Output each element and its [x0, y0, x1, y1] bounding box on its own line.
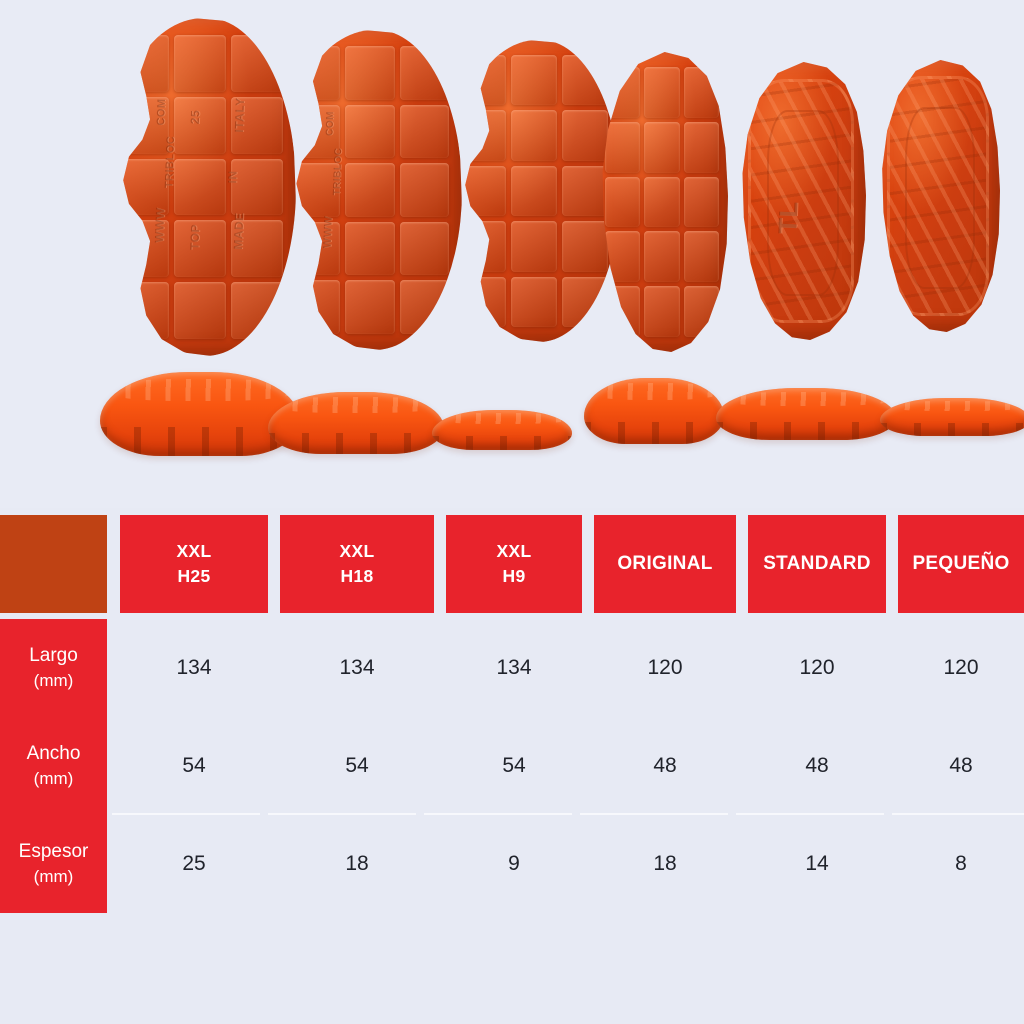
product-photo-face-xxl-h9	[448, 40, 620, 342]
product-photo-side-xxl-h9	[432, 410, 572, 450]
cell-largo-original: 120	[594, 619, 736, 717]
column-header-xxl-h25[interactable]: XXL H25	[120, 515, 268, 613]
row-label-text: Ancho	[27, 740, 81, 768]
pad-tread-brick	[291, 46, 449, 334]
cell-espesor-xxl-h18: 18	[280, 815, 434, 913]
cell-largo-xxl-h9: 134	[446, 619, 582, 717]
column-header-line1: XXL	[340, 541, 375, 561]
row-label-unit: (mm)	[34, 865, 74, 890]
cell-ancho-standard: 48	[748, 717, 886, 815]
pad-tread-brick	[460, 55, 608, 327]
table-row-largo: Largo (mm) 134 134 134 120 120 120	[0, 619, 1024, 717]
cell-espesor-pequeno: 8	[898, 815, 1024, 913]
cell-ancho-xxl-h9: 54	[446, 717, 582, 815]
cell-espesor-original: 18	[594, 815, 736, 913]
row-label-largo: Largo (mm)	[0, 619, 107, 717]
column-header-original[interactable]: ORIGINAL	[594, 515, 736, 613]
row-label-text: Largo	[29, 642, 78, 670]
column-header-xxl-h9[interactable]: XXL H9	[446, 515, 582, 613]
product-photo-side-original	[584, 378, 724, 444]
specification-table: XXL H25 XXL H18 XXL H9 ORIGINAL STANDARD…	[0, 515, 1024, 913]
product-photo-face-xxl-h25: WWW TRIBLOC COM TOP 25 MADE IN ITALY	[104, 18, 296, 356]
row-label-unit: (mm)	[34, 669, 74, 694]
cell-espesor-xxl-h9: 9	[446, 815, 582, 913]
column-header-pequeno[interactable]: PEQUEÑO	[898, 515, 1024, 613]
cell-espesor-standard: 14	[748, 815, 886, 913]
row-label-text: Espesor	[19, 838, 89, 866]
column-header-line1: PEQUEÑO	[912, 550, 1009, 578]
row-label-ancho: Ancho (mm)	[0, 717, 107, 815]
pad-tread-brick	[117, 35, 282, 339]
column-header-xxl-h18[interactable]: XXL H18	[280, 515, 434, 613]
table-header-row: XXL H25 XXL H18 XXL H9 ORIGINAL STANDARD…	[0, 515, 1024, 613]
header-color-swatch	[0, 515, 107, 613]
cell-largo-xxl-h25: 134	[120, 619, 268, 717]
column-header-line2: H9	[503, 566, 526, 586]
column-header-line1: XXL	[497, 541, 532, 561]
product-photo-face-standard: TL	[736, 62, 866, 340]
product-photo-area: WWW TRIBLOC COM TOP 25 MADE IN ITALY WWW…	[0, 0, 1024, 508]
product-photo-side-pequeno	[880, 398, 1024, 436]
cell-ancho-xxl-h25: 54	[120, 717, 268, 815]
pad-tread-line	[748, 79, 855, 324]
product-photo-side-xxl-h18	[268, 392, 444, 454]
product-photo-face-original	[596, 52, 728, 352]
column-header-line1: ORIGINAL	[617, 550, 712, 578]
table-row-espesor: Espesor (mm) 25 18 9 18 14 8	[0, 815, 1024, 913]
product-photo-side-standard	[716, 388, 896, 440]
cell-largo-pequeno: 120	[898, 619, 1024, 717]
cell-largo-standard: 120	[748, 619, 886, 717]
row-label-unit: (mm)	[34, 767, 74, 792]
table-row-ancho: Ancho (mm) 54 54 54 48 48 48	[0, 717, 1024, 815]
pad-tread-brick	[605, 67, 719, 337]
row-label-espesor: Espesor (mm)	[0, 815, 107, 913]
cell-largo-xxl-h18: 134	[280, 619, 434, 717]
column-header-line2: H25	[177, 566, 210, 586]
product-photo-face-xxl-h18: WWW TRIBLOC COM	[278, 30, 462, 350]
column-header-line1: XXL	[177, 541, 212, 561]
cell-ancho-xxl-h18: 54	[280, 717, 434, 815]
column-header-line1: STANDARD	[763, 550, 871, 578]
cell-ancho-pequeno: 48	[898, 717, 1024, 815]
cell-espesor-xxl-h25: 25	[120, 815, 268, 913]
column-header-standard[interactable]: STANDARD	[748, 515, 886, 613]
cell-ancho-original: 48	[594, 717, 736, 815]
product-photo-face-pequeno	[876, 60, 1000, 332]
pad-tread-line	[887, 76, 989, 315]
column-header-line2: H18	[340, 566, 373, 586]
